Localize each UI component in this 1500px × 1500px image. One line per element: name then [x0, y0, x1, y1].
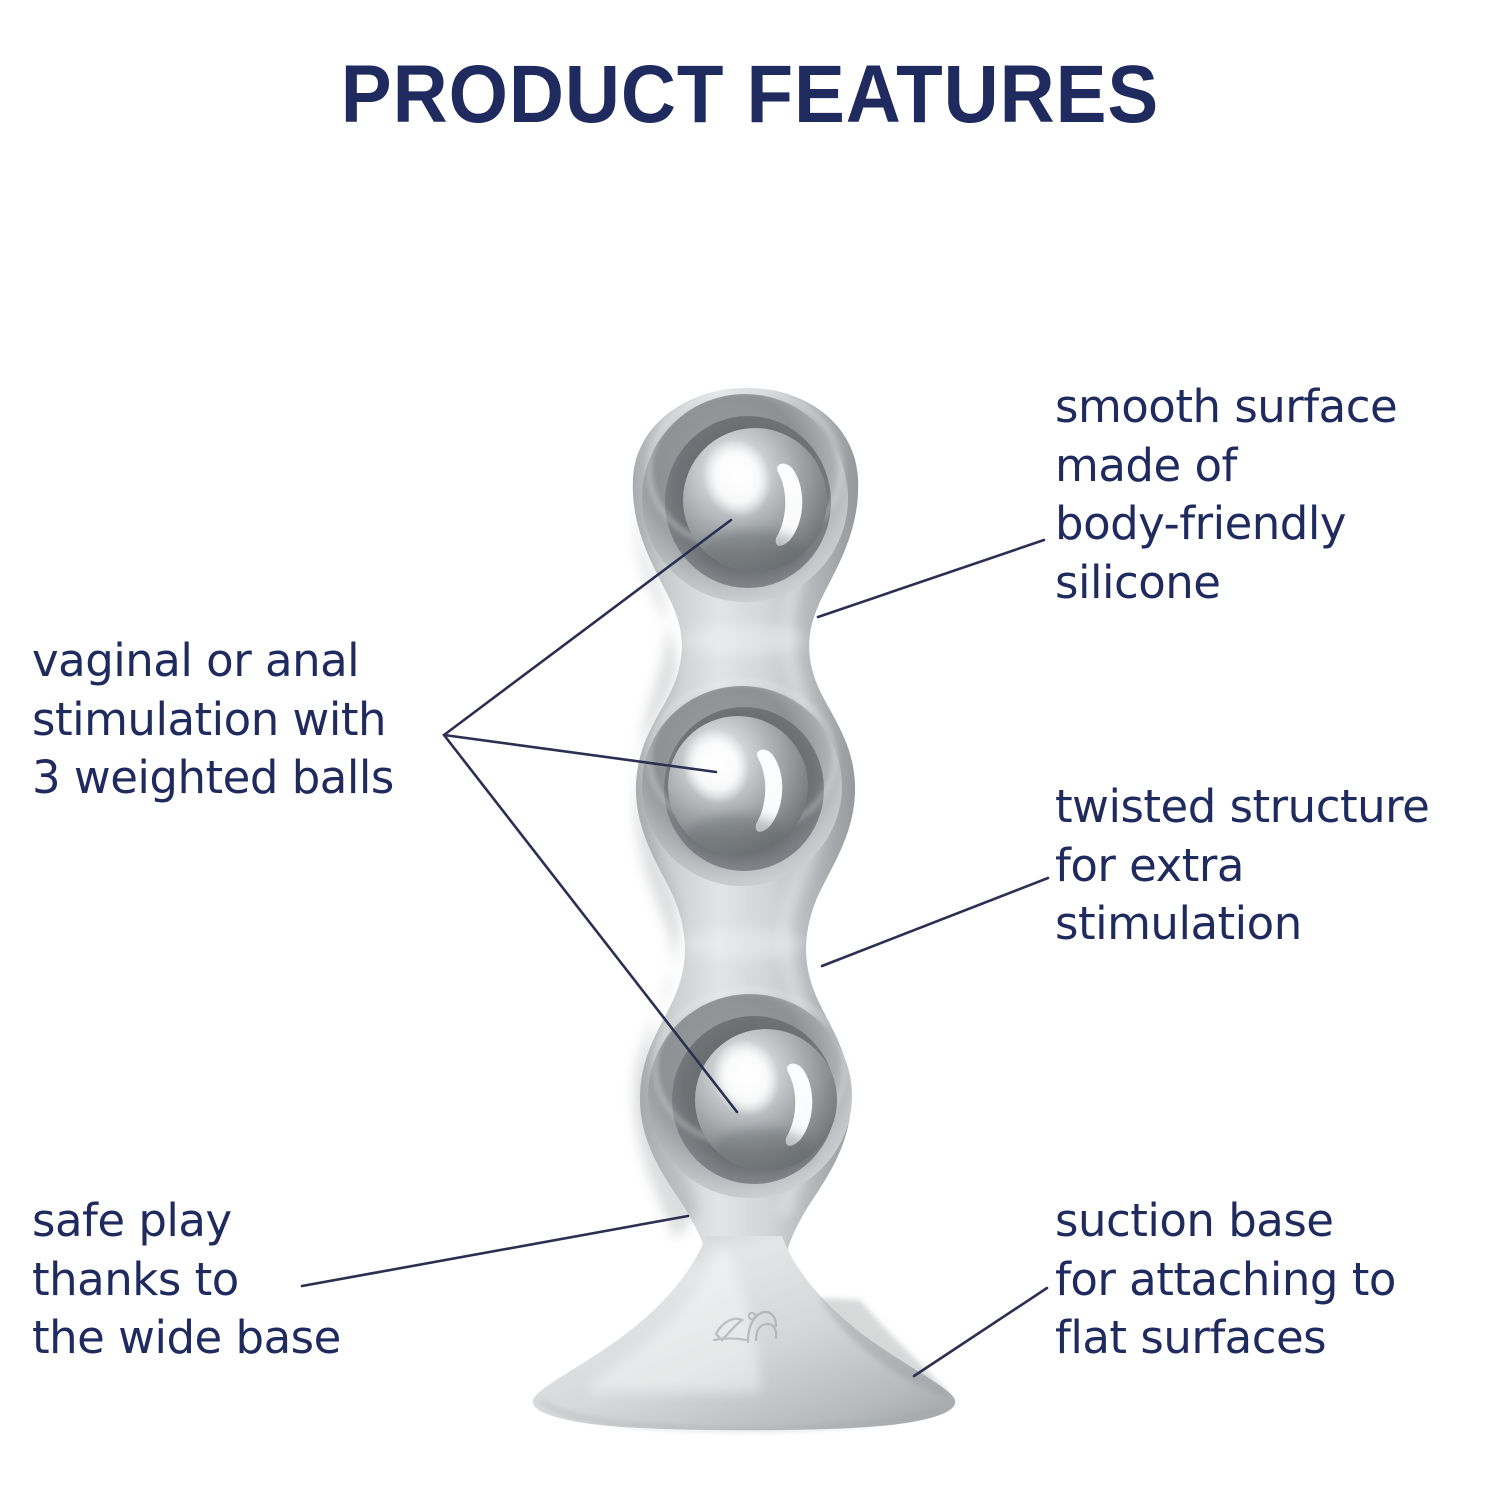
- ball-shadow-bottom-top: [700, 530, 804, 574]
- ball-shadow-bottom-middle: [686, 815, 786, 857]
- callout-label-safe-play: safe play thanks to the wide base: [32, 1192, 412, 1368]
- waist-highlight-lower: [682, 928, 806, 960]
- leader-line-twisted-structure: [822, 878, 1048, 966]
- callout-label-twisted-structure: twisted structure for extra stimulation: [1055, 778, 1485, 954]
- callout-label-smooth-surface: smooth surface made of body-friendly sil…: [1055, 378, 1485, 612]
- infographic-page: PRODUCT FEATURES: [0, 0, 1500, 1500]
- leader-line-smooth-surface: [818, 540, 1044, 617]
- leader-line-suction-base: [914, 1288, 1047, 1376]
- product-body: [533, 388, 955, 1431]
- callout-label-weighted-balls: vaginal or anal stimulation with 3 weigh…: [32, 632, 462, 808]
- ball-shadow-bottom-bottom: [711, 1129, 813, 1171]
- waist-highlight-upper: [682, 624, 806, 656]
- callout-label-suction-base: suction base for attaching to flat surfa…: [1055, 1192, 1485, 1368]
